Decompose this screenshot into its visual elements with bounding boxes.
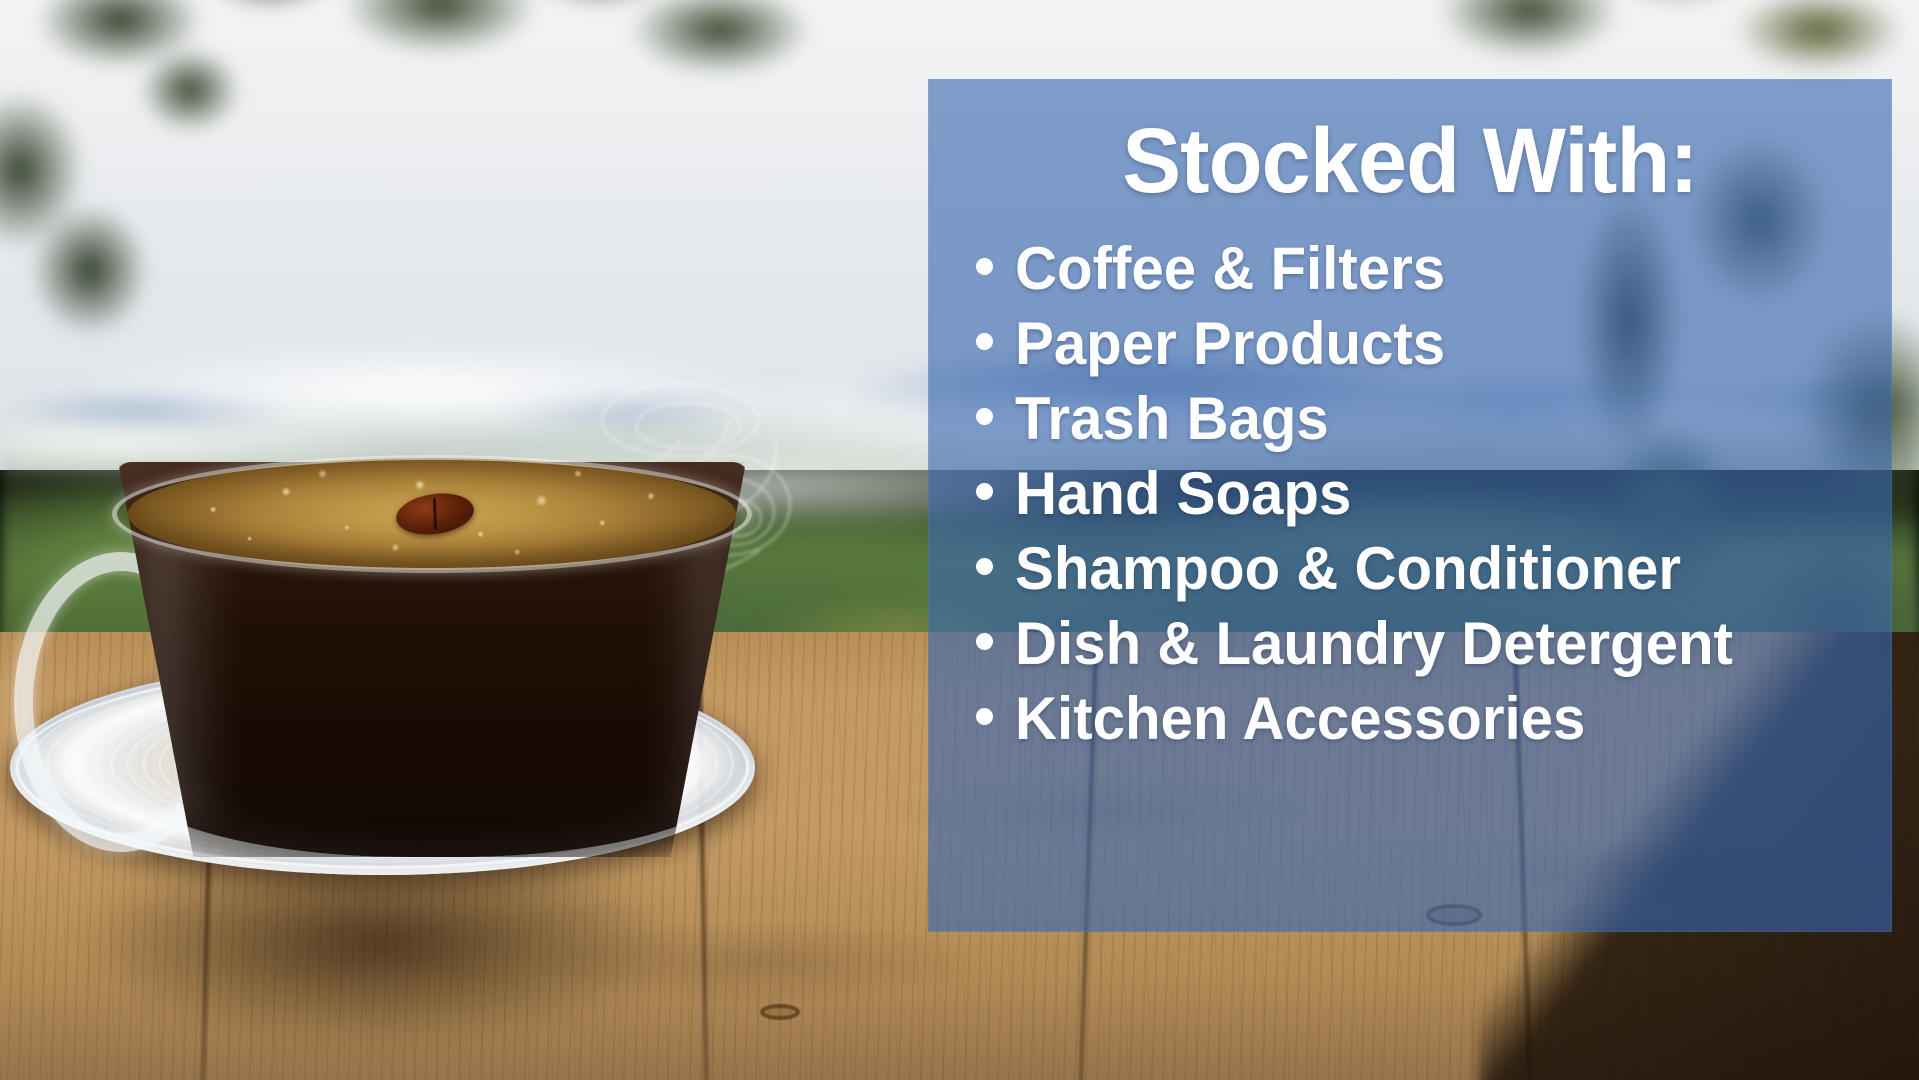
bullet-dot-icon: [976, 258, 993, 275]
list-item: Shampoo & Conditioner: [976, 539, 1892, 599]
cup-rim: [112, 455, 752, 573]
list-item: Paper Products: [976, 314, 1892, 374]
list-item-label: Coffee & Filters: [1015, 239, 1445, 299]
tree-canopy-left: [0, 0, 840, 340]
list-item: Hand Soaps: [976, 464, 1892, 524]
bullet-dot-icon: [976, 708, 993, 725]
list-item: Trash Bags: [976, 389, 1892, 449]
bullet-dot-icon: [976, 333, 993, 350]
list-item-label: Dish & Laundry Detergent: [1015, 614, 1733, 674]
slide-canvas: Stocked With: Coffee & Filters Paper Pro…: [0, 0, 1919, 1080]
bullet-dot-icon: [976, 633, 993, 650]
stocked-with-panel: Stocked With: Coffee & Filters Paper Pro…: [928, 79, 1892, 932]
stocked-items-list: Coffee & Filters Paper Products Trash Ba…: [928, 239, 1892, 749]
list-item: Dish & Laundry Detergent: [976, 614, 1892, 674]
list-item: Coffee & Filters: [976, 239, 1892, 299]
list-item-label: Trash Bags: [1015, 389, 1329, 449]
list-item: Kitchen Accessories: [976, 689, 1892, 749]
list-item-label: Shampoo & Conditioner: [1015, 539, 1681, 599]
bullet-dot-icon: [976, 558, 993, 575]
bullet-dot-icon: [976, 483, 993, 500]
list-item-label: Paper Products: [1015, 314, 1445, 374]
bullet-dot-icon: [976, 408, 993, 425]
list-item-label: Hand Soaps: [1015, 464, 1351, 524]
list-item-label: Kitchen Accessories: [1015, 689, 1585, 749]
panel-title: Stocked With:: [947, 93, 1872, 213]
